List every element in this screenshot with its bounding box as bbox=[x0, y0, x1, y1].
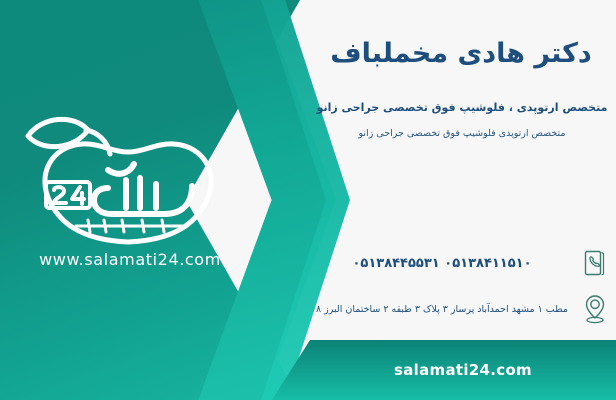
address-contact-row: مطب ۱ مشهد احمدآباد پرسار ۳ پلاک ۳ طبقه … bbox=[312, 292, 610, 326]
clinic-address: مطب ۱ مشهد احمدآباد پرسار ۳ پلاک ۳ طبقه … bbox=[312, 304, 572, 315]
apple-outline-icon bbox=[16, 108, 244, 256]
logo-website-url: www.salamati24.com bbox=[16, 250, 244, 269]
specialty-primary: متخصص ارتوپدی ، فلوشیپ فوق تخصصی جراحی ز… bbox=[312, 101, 612, 114]
doctor-name: دکتر هادی مخملباف bbox=[318, 38, 604, 69]
footer-website[interactable]: salamati24.com bbox=[310, 340, 616, 400]
footer-bar: salamati24.com bbox=[272, 340, 616, 400]
business-card: www.salamati24.com دکتر هادی مخملباف متخ… bbox=[0, 0, 616, 400]
phone-contact-row: ۰۵۱۳۸۴۱۱۵۱۰ ۰۵۱۳۸۴۴۵۵۳۱ bbox=[312, 246, 610, 280]
phonebook-icon bbox=[580, 246, 610, 280]
specialty-secondary: متخصص ارتوپدی فلوشیپ فوق تخصصی جراحی زان… bbox=[312, 128, 612, 139]
location-pin-icon bbox=[580, 292, 610, 326]
phone-numbers[interactable]: ۰۵۱۳۸۴۱۱۵۱۰ ۰۵۱۳۸۴۴۵۵۳۱ bbox=[312, 256, 572, 271]
brand-logo: www.salamati24.com bbox=[16, 108, 244, 278]
